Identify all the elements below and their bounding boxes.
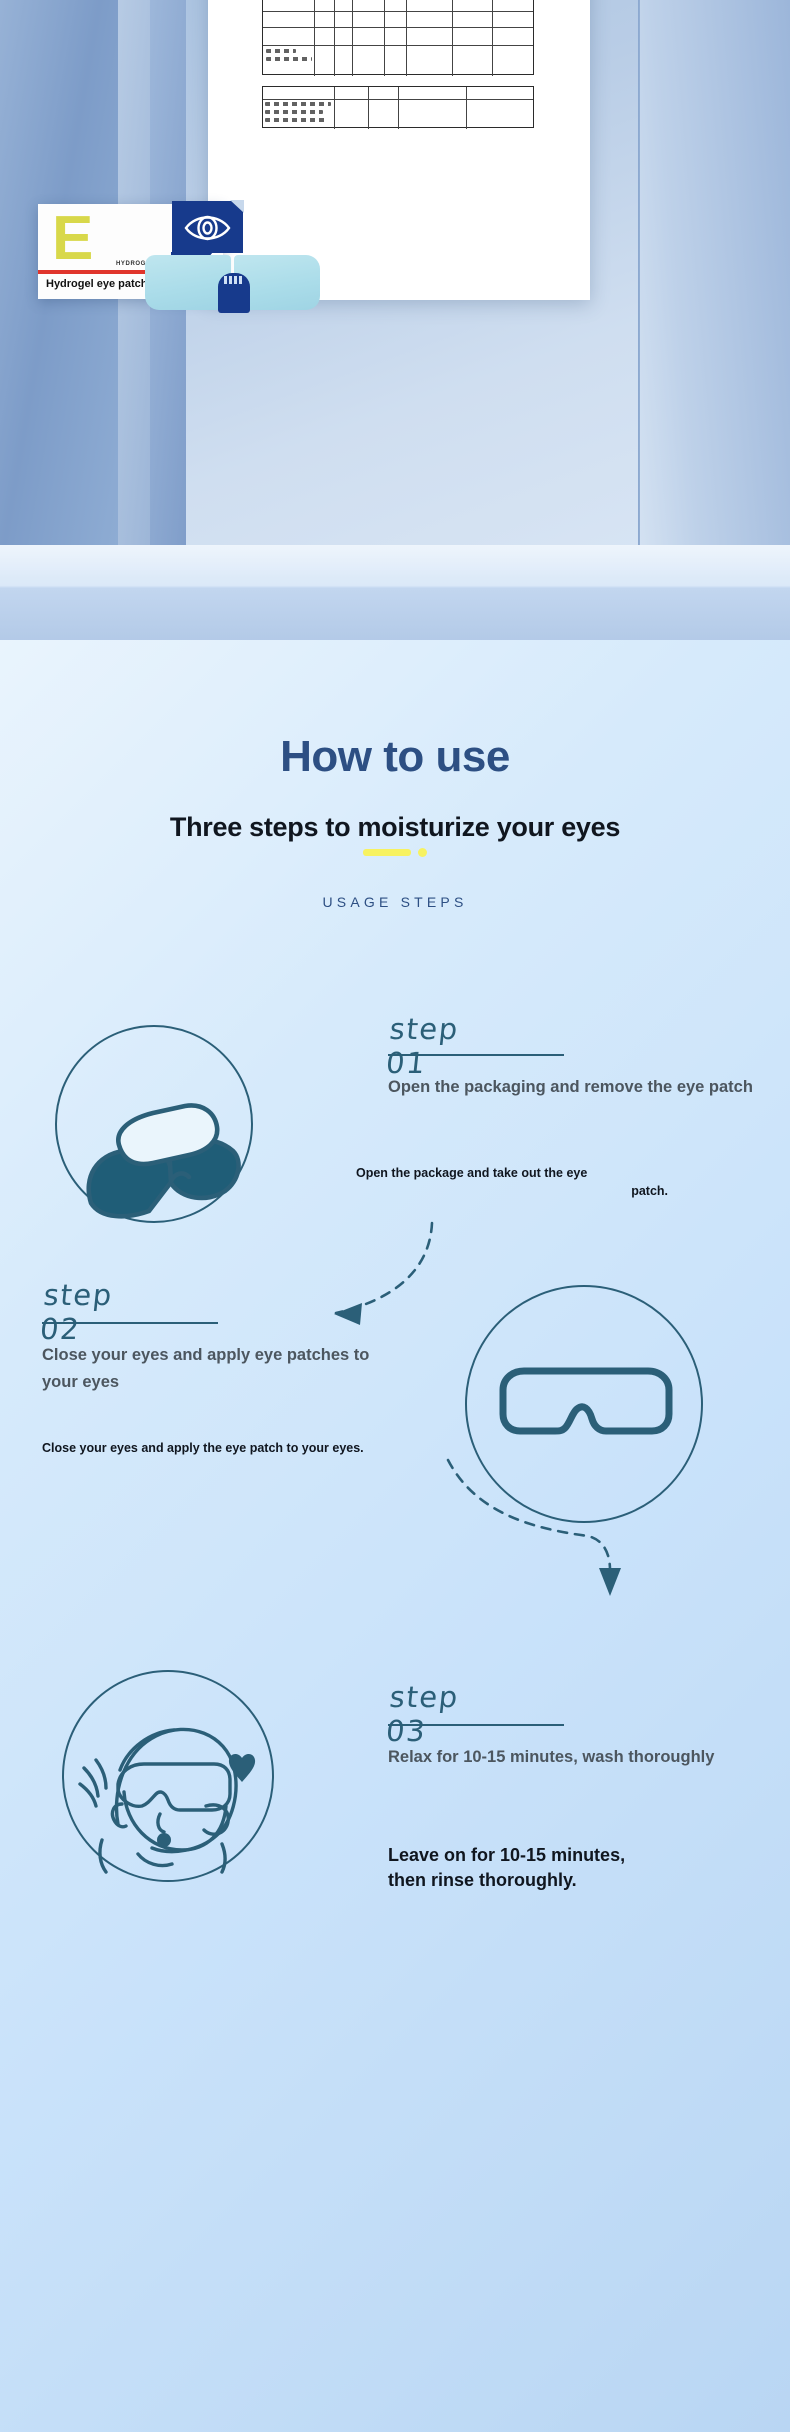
step-03-number: step 03 [384, 1680, 460, 1748]
product-name-label: Hydrogel eye patch [46, 278, 147, 290]
eye-logo-icon [172, 201, 243, 253]
flow-arrow-1 [280, 1215, 470, 1355]
step-01-rule [388, 1054, 564, 1056]
step-01-illustration-circle [55, 1025, 253, 1223]
accent-bar [363, 849, 411, 856]
step-02-caption-line1: Close your eyes and apply the eye patch … [42, 1440, 472, 1458]
step-03-description: Relax for 10-15 minutes, wash thoroughly [388, 1744, 744, 1771]
step-01-number: step 01 [384, 1012, 460, 1080]
step-03-caption-line2: then rinse thoroughly. [388, 1868, 754, 1893]
step-03-caption-line1: Leave on for 10-15 minutes, [388, 1843, 754, 1868]
page-title: How to use [0, 732, 790, 782]
accent-dot [418, 848, 427, 857]
eye-patch-product [145, 255, 320, 313]
brand-letter-e: E [52, 210, 93, 269]
relaxed-face-with-mask-icon [64, 1672, 276, 1884]
accent-divider [0, 848, 790, 857]
opened-package-with-patch-icon [57, 1027, 255, 1225]
step-02-number: step 02 [38, 1278, 114, 1346]
step-02-description: Close your eyes and apply eye patches to… [42, 1342, 398, 1395]
how-to-use-section: How to use Three steps to moisturize you… [0, 640, 790, 2432]
step-01-caption-line2: patch. [356, 1183, 668, 1201]
step-03-rule [388, 1724, 564, 1726]
product-photo-section: Big E HYDROGEL Hydrogel eye patch [0, 0, 790, 640]
counter-top-edge [0, 545, 790, 575]
certificate-table-bottom [262, 86, 534, 128]
flow-arrow-2 [430, 1450, 620, 1610]
step-01-caption-line1: Open the package and take out the eye [356, 1165, 668, 1183]
background-wall-panel-right [640, 0, 790, 575]
page-subtitle: Three steps to moisturize your eyes [0, 812, 790, 843]
usage-steps-kicker: USAGE STEPS [0, 894, 790, 910]
certificate-table-top [262, 0, 534, 75]
step-01-description: Open the packaging and remove the eye pa… [388, 1074, 754, 1101]
step-03-illustration-circle [62, 1670, 274, 1882]
step-02-rule [42, 1322, 218, 1324]
